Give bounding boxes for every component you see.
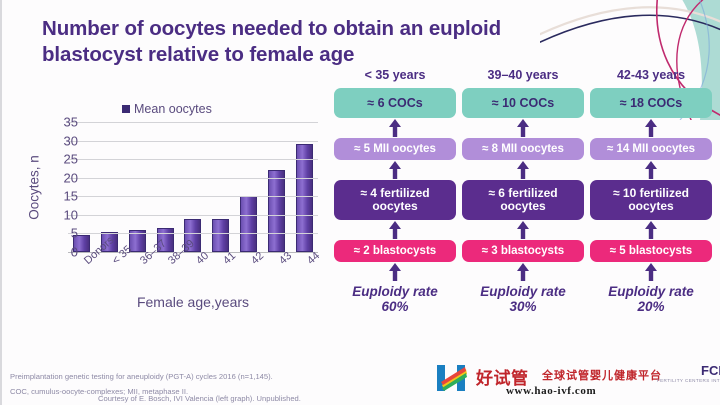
up-arrow-icon [334, 118, 456, 138]
euploidy-rate: Euploidy rate60% [334, 284, 456, 314]
chart-y-tick-label: 5 [48, 226, 78, 241]
chart-gridline [68, 122, 318, 123]
mii-oocytes-box: ≈ 14 MII oocytes [590, 138, 712, 160]
up-arrow-icon [590, 118, 712, 138]
fertilized-oocytes-box: ≈ 4 fertilized oocytes [334, 180, 456, 220]
chart-y-tick-label: 10 [48, 207, 78, 222]
chart-y-tick-label: 35 [48, 115, 78, 130]
euploidy-rate-value: 30% [509, 299, 536, 314]
up-arrow-icon [334, 160, 456, 180]
up-arrow-icon [590, 220, 712, 240]
chart-plot-area [68, 122, 318, 253]
euploidy-rate: Euploidy rate30% [462, 284, 584, 314]
oocyte-flow-diagram: < 35 years≈ 6 COCs≈ 5 MII oocytes≈ 4 fer… [334, 66, 718, 346]
chart-gridline [68, 178, 318, 179]
chart-legend: Mean oocytes [122, 102, 212, 116]
flow-column: 42-43 years≈ 18 COCs≈ 14 MII oocytes≈ 10… [590, 66, 712, 314]
up-arrow-icon [334, 220, 456, 240]
cocs-box: ≈ 18 COCs [590, 88, 712, 118]
oocyte-bar-chart: Oocytes, n Mean oocytes 05101520253035 D… [10, 98, 330, 308]
euploidy-rate: Euploidy rate20% [590, 284, 712, 314]
chart-bar [212, 219, 229, 252]
cocs-box: ≈ 6 COCs [334, 88, 456, 118]
flow-column: < 35 years≈ 6 COCs≈ 5 MII oocytes≈ 4 fer… [334, 66, 456, 314]
legend-swatch-icon [122, 105, 130, 113]
euploidy-rate-value: 60% [381, 299, 408, 314]
chart-y-tick-label: 25 [48, 152, 78, 167]
up-arrow-icon [590, 262, 712, 282]
chart-gridline [68, 233, 318, 234]
blastocysts-box: ≈ 2 blastocysts [334, 240, 456, 262]
mii-oocytes-box: ≈ 5 MII oocytes [334, 138, 456, 160]
up-arrow-icon [462, 262, 584, 282]
flow-column: 39–40 years≈ 10 COCs≈ 8 MII oocytes≈ 6 f… [462, 66, 584, 314]
chart-gridline [68, 159, 318, 160]
chart-bar [240, 196, 257, 252]
euploidy-rate-label: Euploidy rate [352, 284, 438, 299]
fertilized-oocytes-box: ≈ 10 fertilized oocytes [590, 180, 712, 220]
blastocysts-box: ≈ 3 blastocysts [462, 240, 584, 262]
up-arrow-icon [462, 118, 584, 138]
flow-column-header: < 35 years [334, 66, 456, 84]
fertilized-oocytes-box: ≈ 6 fertilized oocytes [462, 180, 584, 220]
blastocysts-box: ≈ 5 blastocysts [590, 240, 712, 262]
euploidy-rate-value: 20% [637, 299, 664, 314]
chart-y-tick-label: 15 [48, 189, 78, 204]
chart-gridline [68, 141, 318, 142]
up-arrow-icon [334, 262, 456, 282]
page-title: Number of oocytes needed to obtain an eu… [42, 16, 602, 68]
footer-courtesy: Courtesy of E. Bosch, IVI Valencia (left… [98, 394, 301, 403]
chart-bar [268, 170, 285, 252]
up-arrow-icon [462, 220, 584, 240]
chart-gridline [68, 215, 318, 216]
up-arrow-icon [462, 160, 584, 180]
footer-line-1: Preimplantation genetic testing for aneu… [10, 370, 716, 384]
up-arrow-icon [590, 160, 712, 180]
slide-canvas: Number of oocytes needed to obtain an eu… [0, 0, 720, 405]
chart-y-tick-label: 30 [48, 133, 78, 148]
mii-oocytes-box: ≈ 8 MII oocytes [462, 138, 584, 160]
chart-y-tick-label: 20 [48, 170, 78, 185]
chart-bar [296, 144, 313, 252]
euploidy-rate-label: Euploidy rate [480, 284, 566, 299]
chart-y-axis-label: Oocytes, n [27, 128, 42, 248]
cocs-box: ≈ 10 COCs [462, 88, 584, 118]
flow-column-header: 42-43 years [590, 66, 712, 84]
legend-label: Mean oocytes [134, 102, 212, 116]
chart-gridline [68, 196, 318, 197]
flow-column-header: 39–40 years [462, 66, 584, 84]
euploidy-rate-label: Euploidy rate [608, 284, 694, 299]
chart-x-axis-label: Female age,years [68, 294, 318, 310]
